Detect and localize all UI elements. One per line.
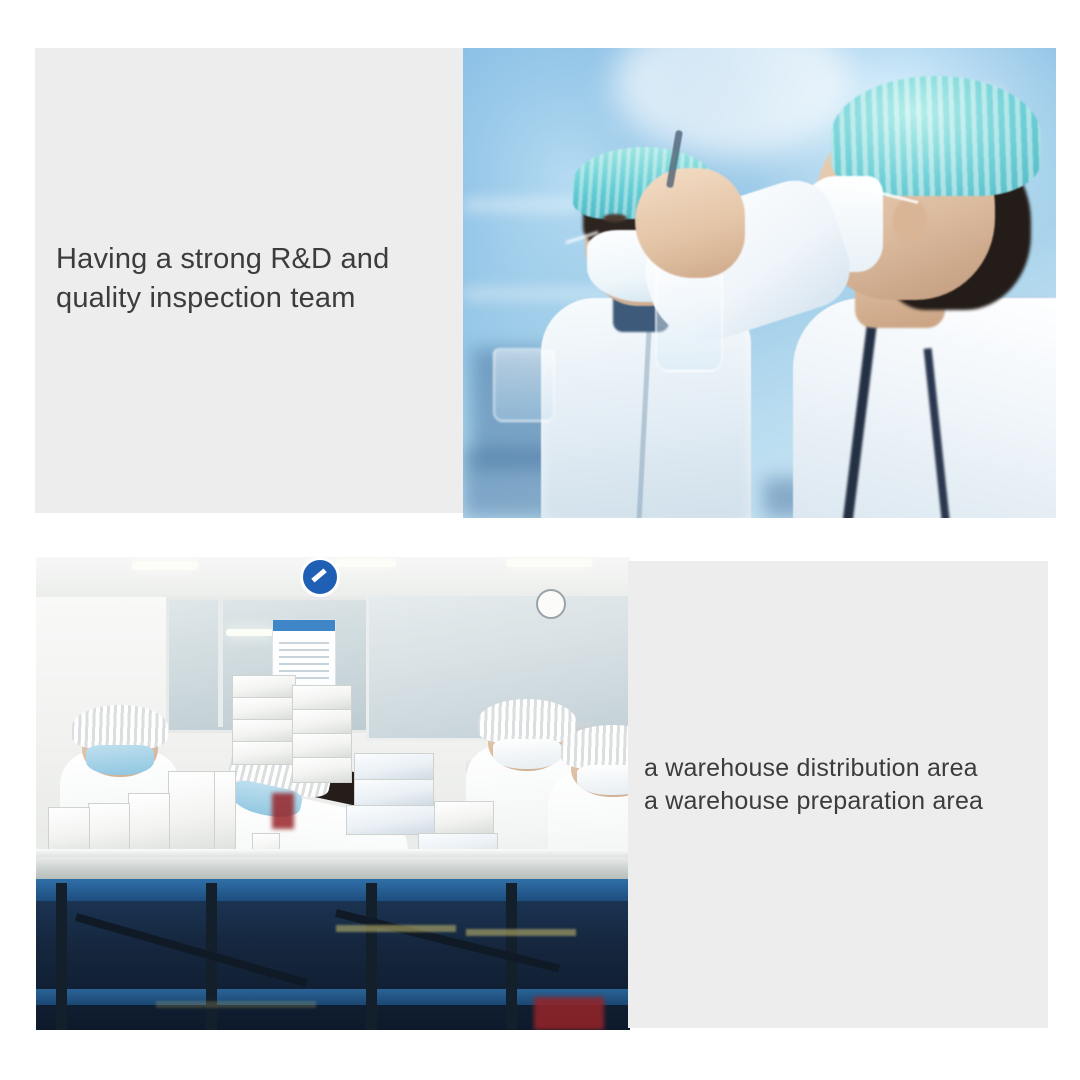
ceiling-light xyxy=(132,561,198,570)
ceiling-light xyxy=(336,559,396,567)
ceiling-light xyxy=(506,559,592,567)
carton-box xyxy=(292,757,352,783)
carton-box xyxy=(292,733,352,759)
worker-hairnet xyxy=(72,705,168,749)
worker-hairnet xyxy=(561,725,630,769)
carton-box xyxy=(232,719,296,743)
no-entry-sign-icon xyxy=(300,557,340,597)
floor-marking xyxy=(336,925,456,932)
carton-box xyxy=(168,771,216,861)
carton-box xyxy=(292,685,352,711)
carton-box xyxy=(214,771,236,861)
worker-face-mask xyxy=(86,745,153,775)
blue-table-rail xyxy=(36,879,630,901)
carton-box xyxy=(232,741,296,765)
lab-flask xyxy=(493,348,555,422)
carton-box xyxy=(434,801,494,835)
rnd-caption-text: Having a strong R&D and quality inspecti… xyxy=(56,240,456,318)
technician-a-eye xyxy=(603,214,627,222)
wall-clock-icon xyxy=(536,589,566,619)
ceiling-light-reflection xyxy=(226,629,274,636)
lab-inspection-photo xyxy=(463,48,1056,518)
technician-b-hand xyxy=(635,168,745,278)
carton-box xyxy=(354,753,434,781)
floor-marking xyxy=(466,929,576,936)
table-leg xyxy=(56,883,67,1030)
table-leg xyxy=(366,883,377,1030)
technician-b-coat xyxy=(793,298,1056,518)
carton-box xyxy=(232,675,296,699)
red-item xyxy=(272,793,294,829)
page-canvas: Having a strong R&D and quality inspecti… xyxy=(0,0,1080,1080)
carton-box xyxy=(346,805,438,835)
carton-box xyxy=(354,779,434,807)
warehouse-packing-photo xyxy=(36,557,630,1030)
window-mullion xyxy=(218,597,223,727)
carton-box xyxy=(292,709,352,735)
technician-b-ear xyxy=(893,198,927,244)
floor-marking xyxy=(156,1001,316,1008)
warehouse-caption-text: a warehouse distribution area a warehous… xyxy=(644,752,1044,818)
lab-shelf xyxy=(463,198,583,212)
carton-box xyxy=(232,697,296,721)
red-item xyxy=(534,997,604,1030)
